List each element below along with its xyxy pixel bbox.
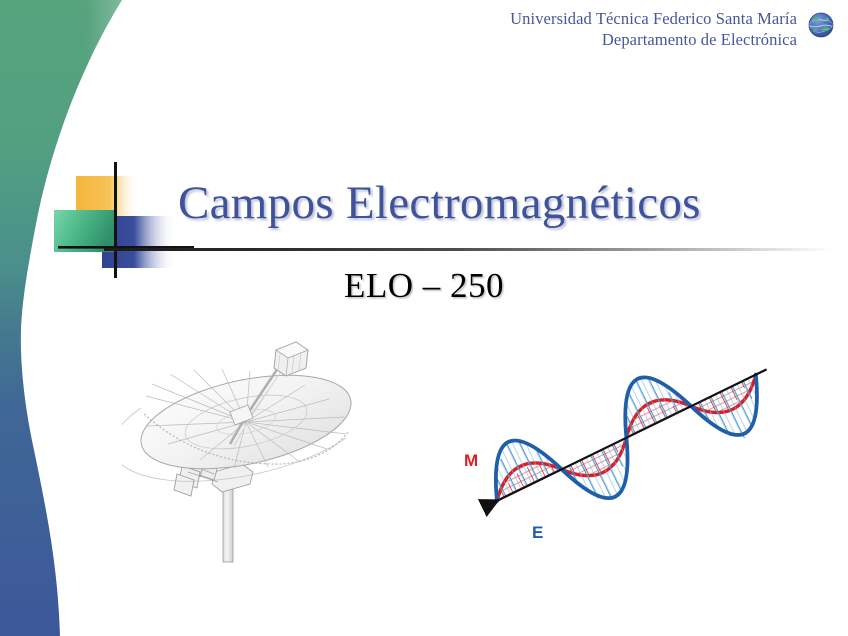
- electric-field-label: E: [532, 523, 543, 542]
- dish-lnb-feedhorn: [274, 342, 308, 376]
- orange-square: [76, 176, 138, 226]
- page-title: Campos Electromagnéticos: [178, 176, 701, 230]
- slide-header: Universidad Técnica Federico Santa María…: [510, 8, 836, 50]
- band-edge-highlight: [0, 0, 122, 636]
- header-department: Departamento de Electrónica: [510, 29, 797, 50]
- magnetic-field-label: M: [464, 451, 478, 470]
- green-square: [54, 210, 116, 252]
- globe-icon: [806, 10, 836, 40]
- header-text-block: Universidad Técnica Federico Santa María…: [510, 8, 797, 50]
- dish-pole: [223, 480, 233, 562]
- header-institution: Universidad Técnica Federico Santa María: [510, 8, 797, 29]
- presentation-slide: Universidad Técnica Federico Santa María…: [0, 0, 848, 636]
- blue-square: [102, 216, 174, 268]
- electromagnetic-wave-diagram: M E: [452, 312, 808, 560]
- satellite-dish-antenna: [122, 332, 370, 568]
- propagation-axis: [486, 369, 766, 506]
- divider-line: [104, 248, 834, 251]
- crosshair-vertical: [114, 162, 117, 278]
- wave-group: [465, 326, 789, 553]
- band-shape: [0, 0, 122, 636]
- title-divider: [104, 248, 834, 252]
- course-code-subtitle: ELO – 250: [0, 266, 848, 306]
- electric-field-wave: [476, 331, 779, 547]
